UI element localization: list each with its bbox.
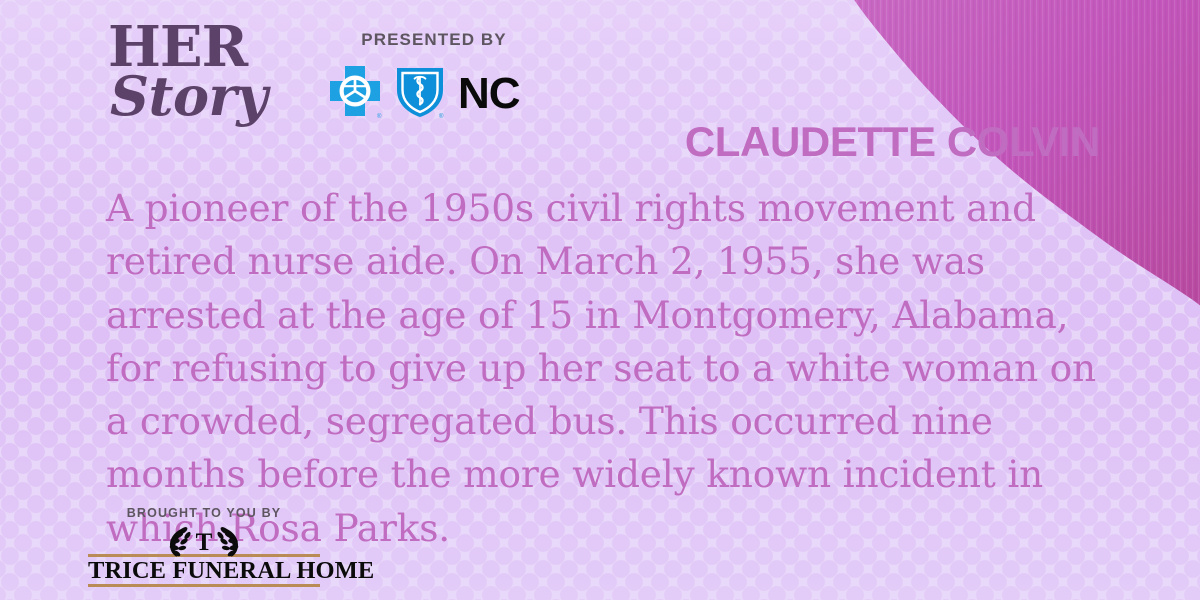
her-story-logo-line2: Story bbox=[110, 72, 318, 122]
bcbs-nc-label: NC bbox=[458, 72, 520, 116]
footer-sponsor-block: BROUGHT TO YOU BY bbox=[88, 506, 320, 587]
blue-cross-icon: ® bbox=[324, 60, 386, 127]
her-story-logo: HER Story bbox=[108, 22, 318, 121]
svg-text:®: ® bbox=[439, 113, 444, 120]
blue-shield-icon: ® bbox=[392, 60, 448, 127]
presented-by-label: PRESENTED BY bbox=[334, 30, 534, 50]
presented-by-block: PRESENTED BY ® bbox=[334, 30, 534, 127]
trice-funeral-home-name: TRICE FUNERAL HOME bbox=[88, 558, 320, 583]
svg-text:®: ® bbox=[377, 113, 382, 120]
feature-name: CLAUDETTE COLVIN bbox=[685, 118, 1100, 166]
wreath-monogram: T bbox=[196, 529, 213, 556]
feature-bio: A pioneer of the 1950s civil rights move… bbox=[106, 182, 1096, 555]
trice-name-rule: TRICE FUNERAL HOME bbox=[88, 554, 320, 587]
brought-to-you-by-label: BROUGHT TO YOU BY bbox=[88, 506, 320, 520]
her-story-social-card: HER Story PRESENTED BY ® bbox=[0, 0, 1200, 600]
bcbs-logo-row: ® ® NC bbox=[324, 60, 534, 127]
